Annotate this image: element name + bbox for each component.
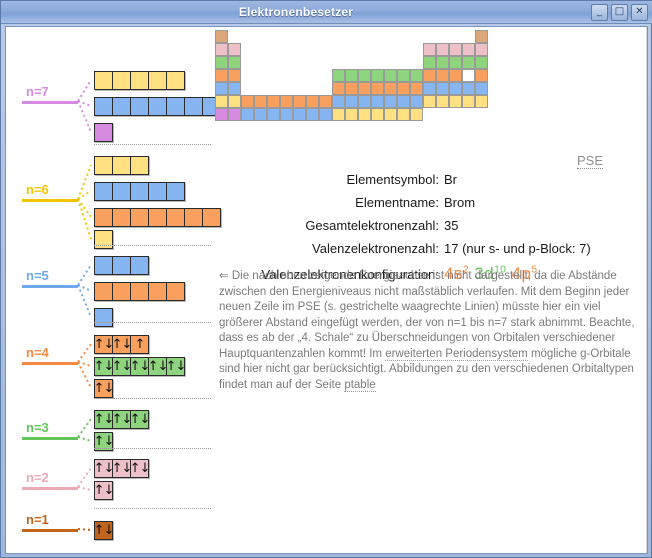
periodic-table-row <box>215 56 488 69</box>
periodic-table-cell[interactable] <box>332 108 345 121</box>
periodic-table-gap <box>254 69 267 82</box>
orbital-box[interactable]: ↑↓ <box>94 410 113 429</box>
periodic-table-cell[interactable] <box>306 95 319 108</box>
orbital-box[interactable] <box>166 182 185 201</box>
orbital-box[interactable] <box>184 97 203 116</box>
orbital-box[interactable]: ↑↓ <box>130 459 149 478</box>
periodic-table-cell[interactable] <box>371 108 384 121</box>
periodic-table-gap <box>293 30 306 43</box>
level-connector <box>78 344 91 362</box>
orbital-box[interactable] <box>112 282 131 301</box>
electron-arrows: ↑↓ <box>94 462 114 475</box>
periodic-table-cell[interactable] <box>215 30 228 43</box>
periodic-table-gap <box>241 69 254 82</box>
periodic-table-gap <box>319 82 332 95</box>
note-link-erweitertes-periodensystem[interactable]: erweiterten Periodensystem <box>385 348 528 361</box>
shell-separator <box>94 245 211 246</box>
energy-level-line-n5 <box>22 285 78 288</box>
electron-arrows: ↑↓ <box>130 360 150 373</box>
periodic-table-gap <box>462 108 475 121</box>
electron-arrows: ↑↓ <box>94 524 114 537</box>
level-connector <box>78 265 91 285</box>
periodic-table-gap <box>358 43 371 56</box>
periodic-table-cell[interactable] <box>345 95 358 108</box>
orbital-row-5d[interactable] <box>94 182 185 201</box>
electron-arrows: ↑↓ <box>148 360 168 373</box>
orbital-box[interactable] <box>130 256 149 275</box>
periodic-table-gap <box>397 43 410 56</box>
pse-link[interactable]: PSE <box>577 153 603 169</box>
periodic-table-cell[interactable] <box>436 95 449 108</box>
orbital-box[interactable]: ↑↓ <box>112 459 131 478</box>
orbital-row-2p[interactable]: ↑↓↑↓↑↓ <box>94 459 149 478</box>
total-electrons-label: Gesamtelektronenzahl: <box>211 218 444 233</box>
periodic-table-gap <box>254 30 267 43</box>
periodic-table-gap <box>254 43 267 56</box>
level-connector <box>78 437 91 441</box>
periodic-table-cell[interactable] <box>423 69 436 82</box>
orbital-row-2s[interactable]: ↑↓ <box>94 481 113 500</box>
periodic-table-cell[interactable] <box>293 95 306 108</box>
periodic-table-cell[interactable] <box>215 95 228 108</box>
orbital-box[interactable] <box>130 71 149 90</box>
orbital-row-4d[interactable] <box>94 282 185 301</box>
orbital-box[interactable] <box>94 308 113 327</box>
orbital-box[interactable] <box>112 182 131 201</box>
periodic-table-gap <box>410 43 423 56</box>
periodic-table-gap <box>293 56 306 69</box>
periodic-table-cell[interactable] <box>332 69 345 82</box>
orbital-box[interactable] <box>112 208 131 227</box>
energy-level-label-n1: n=1 <box>26 512 49 527</box>
periodic-table-cell[interactable] <box>475 30 488 43</box>
periodic-table-gap <box>241 82 254 95</box>
orbital-box[interactable] <box>94 156 113 175</box>
symbol-value: Br <box>444 172 457 187</box>
orbital-row-3p[interactable]: ↑↓↑↓↑↓ <box>94 410 149 429</box>
level-connector <box>78 191 91 199</box>
orbital-row-7s[interactable] <box>94 123 113 142</box>
orbital-box[interactable]: ↑↓ <box>112 335 131 354</box>
orbital-box[interactable]: ↑↓ <box>94 481 113 500</box>
orbital-row-1s[interactable]: ↑↓ <box>94 521 113 540</box>
energy-level-label-n5: n=5 <box>26 268 49 283</box>
level-connector <box>78 285 91 317</box>
periodic-table-cell[interactable] <box>228 56 241 69</box>
periodic-table-cell[interactable] <box>475 95 488 108</box>
periodic-table-gap <box>410 30 423 43</box>
orbital-box[interactable] <box>130 208 149 227</box>
energy-level-label-n6: n=6 <box>26 182 49 197</box>
periodic-table-row <box>215 43 488 56</box>
info-row-name: Elementname: Brom <box>211 195 647 210</box>
periodic-table-cell[interactable] <box>397 69 410 82</box>
periodic-table-cell[interactable] <box>423 82 436 95</box>
periodic-table-cell[interactable] <box>293 108 306 121</box>
orbital-box[interactable] <box>148 97 167 116</box>
orbital-box[interactable]: ↑↓ <box>130 357 149 376</box>
shell-separator <box>94 398 211 399</box>
orbital-row-5f[interactable] <box>94 97 221 116</box>
electron-arrows: ↑↓ <box>112 413 132 426</box>
maximize-button[interactable]: □ <box>611 4 628 21</box>
periodic-table-gap <box>475 108 488 121</box>
orbital-box[interactable] <box>94 182 113 201</box>
energy-level-line-n6 <box>22 199 78 202</box>
periodic-table-gap <box>319 30 332 43</box>
periodic-table-gap <box>397 56 410 69</box>
periodic-table-cell[interactable] <box>371 69 384 82</box>
orbital-box[interactable] <box>148 182 167 201</box>
orbital-box[interactable] <box>112 156 131 175</box>
periodic-table-gap <box>462 30 475 43</box>
orbital-box[interactable]: ↑↓ <box>112 357 131 376</box>
electron-arrows: ↑↓ <box>94 382 114 395</box>
energy-level-line-n3 <box>22 437 78 440</box>
panel-divider <box>646 27 647 553</box>
shell-separator <box>94 508 211 509</box>
right-panel: PSE Elementsymbol: Br Elementname: Brom … <box>211 27 647 553</box>
orbital-box[interactable] <box>94 97 113 116</box>
periodic-table-cell[interactable] <box>215 69 228 82</box>
orbital-row-4f[interactable] <box>94 208 221 227</box>
electron-arrows: ↑↓ <box>112 338 132 351</box>
periodic-table-gap <box>319 69 332 82</box>
shell-separator <box>94 144 211 145</box>
orbital-box[interactable] <box>94 256 113 275</box>
periodic-table-gap <box>267 82 280 95</box>
periodic-table-cell[interactable] <box>397 95 410 108</box>
periodic-table-gap <box>423 30 436 43</box>
periodic-table-gap <box>293 69 306 82</box>
periodic-table-cell[interactable] <box>358 95 371 108</box>
energy-level-label-n3: n=3 <box>26 420 49 435</box>
periodic-table-gap <box>358 30 371 43</box>
periodic-table-gap <box>332 43 345 56</box>
periodic-table-gap <box>280 30 293 43</box>
periodic-table-cell[interactable] <box>384 95 397 108</box>
periodic-table-gap <box>436 108 449 121</box>
minimize-button[interactable]: _ <box>591 4 608 21</box>
orbital-row-5s[interactable] <box>94 308 113 327</box>
periodic-table-cell[interactable] <box>267 95 280 108</box>
level-connector <box>78 468 91 487</box>
shell-separator <box>94 322 211 323</box>
orbital-box[interactable]: ↑↓ <box>130 410 149 429</box>
orbital-box[interactable] <box>166 282 185 301</box>
electron-arrows: ↑↓ <box>130 462 150 475</box>
periodic-table-cell[interactable] <box>280 108 293 121</box>
periodic-table-gap <box>267 43 280 56</box>
periodic-table-cell[interactable] <box>319 108 332 121</box>
periodic-table-gap <box>371 43 384 56</box>
periodic-table-cell[interactable] <box>371 82 384 95</box>
shell-separator <box>94 448 211 449</box>
level-connector <box>78 101 91 106</box>
level-connector <box>78 165 91 199</box>
periodic-table-gap <box>280 43 293 56</box>
periodic-table-cell[interactable] <box>449 69 462 82</box>
periodic-table-gap <box>228 30 241 43</box>
electron-arrows: ↑↓ <box>166 360 186 373</box>
periodic-table-gap <box>254 56 267 69</box>
periodic-table-cell[interactable] <box>410 108 423 121</box>
application-window: Elektronenbesetzer _ □ ✕ n=7n=6n=5n=4n=3… <box>0 0 652 558</box>
orbital-row-6d[interactable] <box>94 71 185 90</box>
orbital-box[interactable]: ↑↓ <box>94 521 113 540</box>
periodic-table-cell-selected[interactable] <box>462 69 475 82</box>
energy-level-line-n1 <box>22 529 78 532</box>
title-bar: Elektronenbesetzer _ □ ✕ <box>1 1 652 24</box>
periodic-table-cell[interactable] <box>436 56 449 69</box>
orbital-box[interactable] <box>148 282 167 301</box>
periodic-table-gap <box>306 82 319 95</box>
electron-arrows: ↑↓ <box>94 360 114 373</box>
level-connector <box>78 419 91 437</box>
orbital-box[interactable] <box>166 71 185 90</box>
periodic-table-cell[interactable] <box>475 43 488 56</box>
orbital-box[interactable] <box>166 97 185 116</box>
periodic-table-cell[interactable] <box>345 82 358 95</box>
periodic-table-gap <box>358 56 371 69</box>
periodic-table-cell[interactable] <box>254 95 267 108</box>
periodic-table-cell[interactable] <box>449 95 462 108</box>
level-connector <box>78 487 91 490</box>
periodic-table-gap <box>449 30 462 43</box>
periodic-table-gap <box>280 69 293 82</box>
periodic-table-gap <box>293 82 306 95</box>
orbital-box[interactable] <box>94 208 113 227</box>
client-area: n=7n=6n=5n=4n=3n=2n=1 ↑↓↑↓↑↑↓↑↓↑↓↑↓↑↓↑↓↑… <box>5 26 648 554</box>
periodic-table-gap <box>332 56 345 69</box>
periodic-table-cell[interactable] <box>358 82 371 95</box>
orbital-row-3d[interactable]: ↑↓↑↓↑↓↑↓↑↓ <box>94 357 185 376</box>
periodic-table-cell[interactable] <box>462 82 475 95</box>
periodic-table-gap <box>241 56 254 69</box>
periodic-table-gap <box>449 108 462 121</box>
periodic-table-row <box>215 82 488 95</box>
periodic-table-gap <box>306 30 319 43</box>
periodic-table-cell[interactable] <box>423 56 436 69</box>
periodic-table-cell[interactable] <box>215 108 228 121</box>
periodic-table-gap <box>319 56 332 69</box>
periodic-table-gap <box>319 43 332 56</box>
periodic-table-cell[interactable] <box>228 43 241 56</box>
level-connector <box>78 529 91 530</box>
periodic-table-cell[interactable] <box>449 56 462 69</box>
electron-arrows: ↑ <box>135 338 145 351</box>
periodic-table-gap <box>345 43 358 56</box>
note-part1: Die nach oben zeigende Energieachse ist … <box>219 270 635 360</box>
name-label: Elementname: <box>211 195 444 210</box>
periodic-table-cell[interactable] <box>215 56 228 69</box>
electron-arrows: ↑↓ <box>94 338 114 351</box>
orbital-row-4p[interactable]: ↑↓↑↓↑ <box>94 335 149 354</box>
close-button[interactable]: ✕ <box>631 4 648 21</box>
periodic-table-cell[interactable] <box>280 95 293 108</box>
energy-level-label-n4: n=4 <box>26 345 49 360</box>
orbital-energy-diagram: n=7n=6n=5n=4n=3n=2n=1 ↑↓↑↓↑↑↓↑↓↑↓↑↓↑↓↑↓↑… <box>6 27 211 553</box>
periodic-table-cell[interactable] <box>423 95 436 108</box>
orbital-box[interactable] <box>130 282 149 301</box>
periodic-table-gap <box>345 56 358 69</box>
energy-level-line-n4 <box>22 362 78 365</box>
periodic-table-gap <box>293 43 306 56</box>
periodic-table-gap <box>306 69 319 82</box>
periodic-table-cell[interactable] <box>215 82 228 95</box>
periodic-table-gap <box>267 30 280 43</box>
periodic-table-gap <box>423 108 436 121</box>
periodic-table-cell[interactable] <box>228 82 241 95</box>
level-connector <box>78 80 91 101</box>
orbital-row-6p[interactable] <box>94 156 149 175</box>
periodic-table-cell[interactable] <box>215 43 228 56</box>
periodic-table-gap <box>332 30 345 43</box>
periodic-table-gap <box>241 43 254 56</box>
orbital-box[interactable]: ↑↓ <box>94 379 113 398</box>
level-connector <box>78 199 91 217</box>
periodic-table-cell[interactable] <box>475 56 488 69</box>
note-link-ptable[interactable]: ptable <box>344 379 375 392</box>
periodic-table-cell[interactable] <box>241 95 254 108</box>
electron-arrows: ↑↓ <box>112 462 132 475</box>
orbital-box[interactable] <box>148 71 167 90</box>
orbital-box[interactable] <box>130 97 149 116</box>
orbital-row-5p[interactable] <box>94 256 149 275</box>
periodic-table-gap <box>345 30 358 43</box>
periodic-table-cell[interactable] <box>228 108 241 121</box>
periodic-table-cell[interactable] <box>228 69 241 82</box>
periodic-table-cell[interactable] <box>267 108 280 121</box>
periodic-table-cell[interactable] <box>423 43 436 56</box>
orbital-box[interactable] <box>112 256 131 275</box>
periodic-table-gap <box>397 30 410 43</box>
periodic-table-gap <box>436 30 449 43</box>
energy-level-label-n7: n=7 <box>26 84 49 99</box>
orbital-box[interactable] <box>130 156 149 175</box>
periodic-table-cell[interactable] <box>345 108 358 121</box>
orbital-box[interactable] <box>112 97 131 116</box>
orbital-box[interactable] <box>94 123 113 142</box>
orbital-row-4s[interactable]: ↑↓ <box>94 379 113 398</box>
periodic-table-cell[interactable] <box>358 108 371 121</box>
periodic-table-cell[interactable] <box>410 69 423 82</box>
periodic-table-cell[interactable] <box>397 108 410 121</box>
periodic-table-cell[interactable] <box>306 108 319 121</box>
periodic-table-cell[interactable] <box>254 108 267 121</box>
periodic-table-row <box>215 30 488 43</box>
periodic-table-cell[interactable] <box>358 69 371 82</box>
periodic-table-cell[interactable] <box>332 95 345 108</box>
periodic-table-cell[interactable] <box>384 82 397 95</box>
periodic-table-gap <box>280 56 293 69</box>
periodic-table-cell[interactable] <box>462 43 475 56</box>
periodic-table-cell[interactable] <box>436 82 449 95</box>
orbital-box[interactable] <box>130 182 149 201</box>
level-connector <box>78 362 91 366</box>
periodic-table-gap <box>371 56 384 69</box>
periodic-table-cell[interactable] <box>371 95 384 108</box>
orbital-box[interactable] <box>94 230 113 249</box>
periodic-table-cell[interactable] <box>397 82 410 95</box>
periodic-table-gap <box>267 56 280 69</box>
periodic-table-gap <box>384 56 397 69</box>
info-row-valence: Valenzelektronenzahl: 17 (nur s- und p-B… <box>211 241 647 256</box>
orbital-box[interactable]: ↑↓ <box>166 357 185 376</box>
energy-level-line-n7 <box>22 101 78 104</box>
orbital-box[interactable] <box>166 208 185 227</box>
orbital-box[interactable] <box>148 208 167 227</box>
periodic-table-cell[interactable] <box>475 82 488 95</box>
valence-electrons-value: 17 (nur s- und p-Block: 7) <box>444 241 591 256</box>
window-controls: _ □ ✕ <box>591 4 652 21</box>
periodic-table-cell[interactable] <box>449 43 462 56</box>
electron-arrows: ↑↓ <box>112 360 132 373</box>
periodic-table-cell[interactable] <box>384 69 397 82</box>
orbital-box[interactable]: ↑↓ <box>148 357 167 376</box>
periodic-table-cell[interactable] <box>475 69 488 82</box>
symbol-label: Elementsymbol: <box>211 172 444 187</box>
info-row-total: Gesamtelektronenzahl: 35 <box>211 218 647 233</box>
periodic-table-cell[interactable] <box>449 82 462 95</box>
periodic-table-cell[interactable] <box>319 95 332 108</box>
periodic-table-gap <box>384 43 397 56</box>
orbital-box[interactable] <box>94 282 113 301</box>
periodic-table-cell[interactable] <box>410 82 423 95</box>
periodic-table-cell[interactable] <box>241 108 254 121</box>
window-title: Elektronenbesetzer <box>1 5 591 19</box>
name-value: Brom <box>444 195 475 210</box>
periodic-table-cell[interactable] <box>462 56 475 69</box>
periodic-table-gap <box>410 56 423 69</box>
energy-level-label-n2: n=2 <box>26 470 49 485</box>
periodic-table-gap <box>384 30 397 43</box>
periodic-table-gap <box>280 82 293 95</box>
orbital-box[interactable] <box>184 208 203 227</box>
level-connector <box>78 199 91 239</box>
periodic-table-gap <box>371 30 384 43</box>
orbital-box[interactable]: ↑ <box>130 335 149 354</box>
periodic-table-cell[interactable] <box>384 108 397 121</box>
periodic-table[interactable] <box>215 30 488 121</box>
valence-electrons-label: Valenzelektronenzahl: <box>211 241 444 256</box>
periodic-table-cell[interactable] <box>228 95 241 108</box>
periodic-table-cell[interactable] <box>462 95 475 108</box>
periodic-table-gap <box>241 30 254 43</box>
periodic-table-row <box>215 95 488 108</box>
orbital-box[interactable] <box>94 71 113 90</box>
electron-arrows: ↑↓ <box>130 413 150 426</box>
periodic-table-gap <box>267 69 280 82</box>
orbital-box[interactable]: ↑↓ <box>94 357 113 376</box>
periodic-table-cell[interactable] <box>332 82 345 95</box>
periodic-table-cell[interactable] <box>436 43 449 56</box>
explanatory-note: ⇐ Die nach oben zeigende Energieachse is… <box>219 269 639 393</box>
orbital-box[interactable] <box>112 71 131 90</box>
orbital-row-6s[interactable] <box>94 230 113 249</box>
orbital-box[interactable]: ↑↓ <box>94 335 113 354</box>
note-arrow-icon: ⇐ <box>219 270 232 282</box>
periodic-table-gap <box>306 43 319 56</box>
total-electrons-value: 35 <box>444 218 458 233</box>
periodic-table-gap <box>306 56 319 69</box>
orbital-box[interactable]: ↑↓ <box>112 410 131 429</box>
orbital-box[interactable]: ↑↓ <box>94 459 113 478</box>
periodic-table-cell[interactable] <box>345 69 358 82</box>
periodic-table-row <box>215 69 488 82</box>
periodic-table-cell[interactable] <box>436 69 449 82</box>
periodic-table-cell[interactable] <box>410 95 423 108</box>
